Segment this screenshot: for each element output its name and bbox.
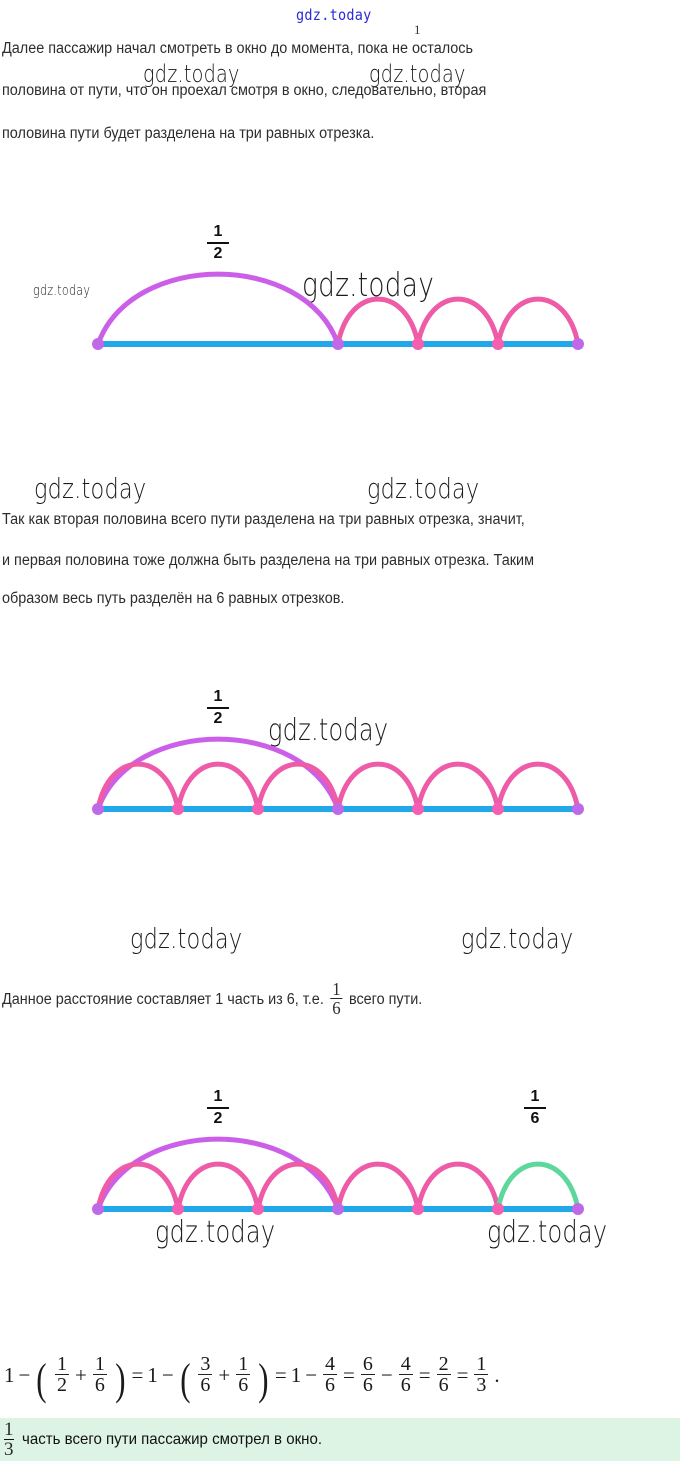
diagram-fraction-label: 12 — [203, 224, 233, 262]
watermark-gdz-today: gdz.today — [296, 6, 372, 24]
formula-fraction: 12 — [55, 1354, 69, 1396]
fraction-numerator: 4 — [399, 1354, 413, 1374]
diagram-1 — [0, 258, 680, 366]
formula-number: 1 — [4, 1363, 15, 1388]
formula-fraction: 16 — [236, 1354, 250, 1396]
formula-operator: = — [419, 1363, 431, 1388]
formula-fraction: 16 — [93, 1354, 107, 1396]
distance-text-before: Данное расстояние составляет 1 часть из … — [2, 991, 324, 1009]
formula-operator: + — [218, 1363, 230, 1388]
fraction-numerator: 1 — [203, 689, 233, 705]
fraction-bar — [207, 242, 229, 244]
point-marker — [412, 1203, 424, 1215]
point-marker — [92, 1203, 104, 1215]
fraction-numerator: 2 — [437, 1354, 451, 1374]
point-marker — [332, 803, 344, 815]
point-marker — [92, 803, 104, 815]
arc-sixth-highlight — [498, 1164, 578, 1209]
diagram-3 — [0, 1123, 680, 1231]
arc-segment — [498, 764, 578, 809]
paragraph-intro-line: половина пути будет разделена на три рав… — [2, 125, 374, 143]
formula-fraction: 36 — [198, 1354, 212, 1396]
point-marker — [332, 1203, 344, 1215]
point-marker — [172, 803, 184, 815]
fraction-numerator: 6 — [361, 1354, 375, 1374]
arc-half-path — [98, 1139, 338, 1209]
point-marker — [492, 338, 504, 350]
point-marker — [412, 803, 424, 815]
formula-number: 1 — [147, 1363, 158, 1388]
formula-operator: = — [275, 1363, 287, 1388]
fraction-denominator: 6 — [236, 1374, 250, 1395]
fraction-numerator: 1 — [474, 1354, 488, 1374]
fraction-bar — [207, 707, 229, 709]
fraction-denominator: 6 — [399, 1374, 413, 1395]
fraction-numerator: 1 — [4, 1420, 14, 1439]
formula-operator: = — [457, 1363, 469, 1388]
arc-segment — [418, 764, 498, 809]
paragraph-intro-line: половина от пути, что он проехал смотря … — [2, 82, 486, 100]
formula-operator: − — [381, 1363, 393, 1388]
watermark-gdz-today: gdz.today — [130, 922, 242, 955]
distance-fraction: 16 — [330, 980, 342, 1018]
paragraph-intro-line: Далее пассажир начал смотреть в окно до … — [2, 40, 473, 58]
fraction-bar — [524, 1107, 546, 1109]
fraction-numerator: 1 — [93, 1354, 107, 1374]
formula-number: . — [494, 1363, 499, 1388]
fraction-denominator: 6 — [93, 1374, 107, 1395]
paragraph-middle-line: и первая половина тоже должна быть разде… — [2, 552, 534, 570]
fraction-numerator: 1 — [236, 1354, 250, 1374]
fraction-denominator: 6 — [330, 998, 342, 1017]
watermark-gdz-today: gdz.today — [34, 472, 146, 505]
watermark-gdz-today: gdz.today — [461, 922, 573, 955]
answer-formula: 1−(12+16)=1−(36+16)=1−46=66−46=26=13. — [4, 1355, 500, 1397]
diagram-fraction-label: 12 — [203, 689, 233, 727]
formula-operator: = — [343, 1363, 355, 1388]
point-marker — [572, 338, 584, 350]
formula-fraction: 66 — [361, 1354, 375, 1396]
arc-segment — [178, 1164, 258, 1209]
point-marker — [572, 803, 584, 815]
point-marker — [92, 338, 104, 350]
fraction-denominator: 3 — [474, 1374, 488, 1395]
formula-operator: − — [162, 1363, 174, 1388]
fraction-numerator: 4 — [323, 1354, 337, 1374]
diagram-3-svg — [0, 1123, 680, 1231]
fraction-denominator: 2 — [203, 1111, 233, 1127]
point-marker — [492, 1203, 504, 1215]
fraction-denominator: 6 — [361, 1374, 375, 1395]
fraction-denominator: 6 — [323, 1374, 337, 1395]
answer-highlight-box: 13часть всего пути пассажир смотрел в ок… — [0, 1418, 680, 1461]
fraction-numerator: 1 — [203, 224, 233, 240]
formula-fraction: 13 — [474, 1354, 488, 1396]
point-marker — [412, 338, 424, 350]
arc-segment — [418, 1164, 498, 1209]
arc-segment — [418, 299, 498, 344]
fraction-denominator: 2 — [203, 711, 233, 727]
fraction-denominator: 2 — [203, 246, 233, 262]
distance-text-after: всего пути. — [349, 991, 422, 1009]
diagram-1-svg — [0, 258, 680, 366]
fraction-bar — [207, 1107, 229, 1109]
answer-fraction: 13 — [4, 1420, 14, 1459]
formula-operator: − — [19, 1363, 31, 1388]
fraction-denominator: 6 — [437, 1374, 451, 1395]
point-marker — [172, 1203, 184, 1215]
fraction-numerator: 1 — [55, 1354, 69, 1374]
paragraph-middle-line: Так как вторая половина всего пути разде… — [2, 511, 525, 529]
arc-segment — [338, 764, 418, 809]
diagram-2-svg — [0, 723, 680, 831]
diagram-fraction-label: 12 — [203, 1089, 233, 1127]
arc-half-path — [98, 274, 338, 344]
paragraph-middle-line: образом весь путь разделён на 6 равных о… — [2, 590, 344, 608]
fraction-denominator: 3 — [4, 1439, 14, 1459]
fraction-numerator: 1 — [203, 1089, 233, 1105]
fraction-denominator: 2 — [55, 1374, 69, 1395]
arc-segment — [338, 1164, 418, 1209]
point-marker — [252, 803, 264, 815]
diagram-fraction-label: 16 — [520, 1089, 550, 1127]
paragraph-distance: Данное расстояние составляет 1 часть из … — [2, 981, 422, 1019]
answer-sentence: часть всего пути пассажир смотрел в окно… — [22, 1431, 322, 1449]
point-marker — [492, 803, 504, 815]
formula-fraction: 46 — [399, 1354, 413, 1396]
formula-number: 1 — [291, 1363, 302, 1388]
fraction-numerator: 3 — [198, 1354, 212, 1374]
arc-segment — [338, 299, 418, 344]
formula-operator: + — [75, 1363, 87, 1388]
formula-fraction: 46 — [323, 1354, 337, 1396]
page-number: 1 — [414, 22, 421, 38]
fraction-denominator: 6 — [520, 1111, 550, 1127]
formula-operator: = — [132, 1363, 144, 1388]
arc-segment — [178, 764, 258, 809]
formula-fraction: 26 — [437, 1354, 451, 1396]
arc-segment — [498, 299, 578, 344]
arc-half-path — [98, 739, 338, 809]
watermark-gdz-today: gdz.today — [367, 472, 479, 505]
formula-operator: − — [305, 1363, 317, 1388]
fraction-numerator: 1 — [520, 1089, 550, 1105]
point-marker — [252, 1203, 264, 1215]
diagram-2 — [0, 723, 680, 831]
fraction-denominator: 6 — [198, 1374, 212, 1395]
point-marker — [572, 1203, 584, 1215]
point-marker — [332, 338, 344, 350]
fraction-numerator: 1 — [330, 980, 342, 998]
